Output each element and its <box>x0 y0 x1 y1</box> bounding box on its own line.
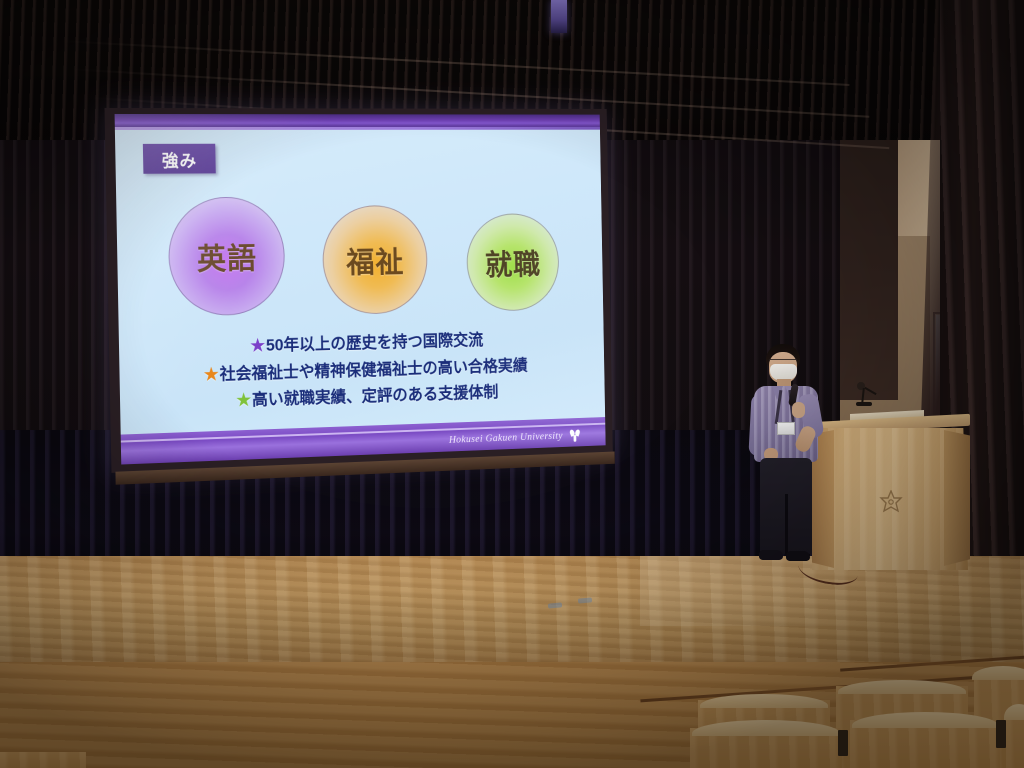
name-badge <box>777 422 795 435</box>
strength-circles: 英語 福祉 就職 <box>167 192 580 315</box>
slide-content: 強み 英語 福祉 就職 ★50年以上の歴史を持つ国際交流 ★社会福祉士や精神保健… <box>115 114 606 465</box>
podium-microphone-base <box>856 402 872 406</box>
bullet-text: 高い就職実績、定評のある支援体制 <box>252 384 499 409</box>
circle-welfare: 福祉 <box>322 205 429 315</box>
slide-top-bar <box>115 114 600 127</box>
stage-floor <box>0 556 1024 666</box>
university-logo-icon <box>569 429 581 442</box>
presenter-right-hand <box>792 402 805 418</box>
presenter-shoe-right <box>786 551 810 561</box>
star-icon: ★ <box>236 391 251 410</box>
seat-back[interactable] <box>0 752 86 768</box>
circle-english: 英語 <box>167 196 285 316</box>
slide-top-bar-highlight <box>115 127 600 130</box>
bullet-text: 50年以上の歴史を持つ国際交流 <box>266 332 484 355</box>
projection-screen[interactable]: 強み 英語 福祉 就職 ★50年以上の歴史を持つ国際交流 ★社会福祉士や精神保健… <box>105 108 613 473</box>
podium-crest-icon <box>878 490 904 514</box>
presenter-leg-split <box>785 494 788 554</box>
purple-light-gap <box>551 0 567 33</box>
seat-back[interactable] <box>1006 712 1024 768</box>
star-icon: ★ <box>250 336 265 355</box>
face-mask <box>770 364 797 380</box>
presenter-shoe-left <box>759 550 783 560</box>
circle-employment: 就職 <box>466 213 560 312</box>
seat-hinge <box>996 720 1006 748</box>
slide-bullet-list: ★50年以上の歴史を持つ国際交流 ★社会福祉士や精神保健福祉士の高い合格実績 ★… <box>119 324 605 419</box>
presenter <box>742 344 838 570</box>
seat-hinge <box>838 730 848 756</box>
logo-stem <box>574 435 577 442</box>
podium-right-face <box>944 430 970 566</box>
auditorium-stage-photo: 強み 英語 福祉 就職 ★50年以上の歴史を持つ国際交流 ★社会福祉士や精神保健… <box>0 0 1024 768</box>
slide-title-badge: 強み <box>143 144 216 174</box>
star-icon: ★ <box>204 365 219 384</box>
